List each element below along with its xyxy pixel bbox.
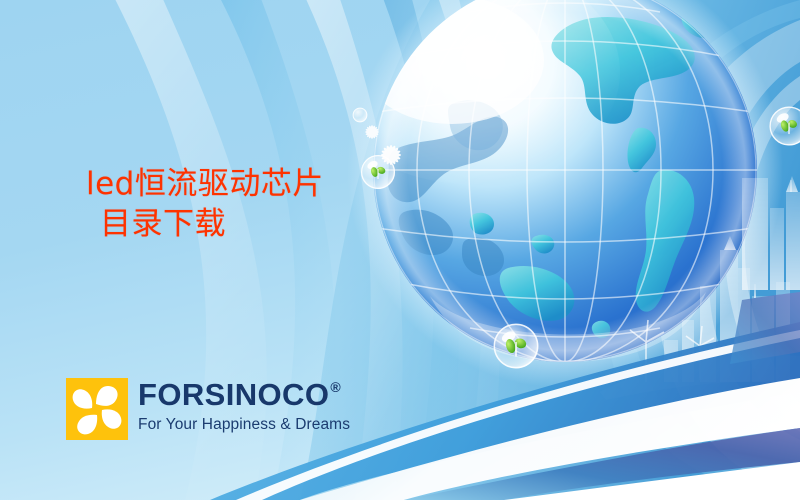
bubble-icon (353, 108, 367, 122)
promo-banner: led恒流驱动芯片 目录下载 FORSINOCO ® For Your Happ… (0, 0, 800, 500)
brand-logo[interactable]: FORSINOCO ® For Your Happiness & Dreams (66, 378, 350, 440)
brand-name-text: FORSINOCO (138, 379, 329, 410)
page-title-line-1: led恒流驱动芯片 (86, 165, 324, 205)
pinwheel-flower-icon (66, 378, 128, 440)
bubble-icon (361, 155, 395, 189)
bubble-icon (494, 324, 539, 369)
page-title: led恒流驱动芯片 目录下载 (86, 165, 324, 244)
brand-name: FORSINOCO ® (138, 379, 350, 410)
registered-trademark-icon: ® (330, 380, 341, 394)
brand-tagline: For Your Happiness & Dreams (138, 417, 350, 433)
brand-wordmark: FORSINOCO ® For Your Happiness & Dreams (138, 378, 350, 433)
page-title-line-2: 目录下载 (86, 205, 324, 245)
